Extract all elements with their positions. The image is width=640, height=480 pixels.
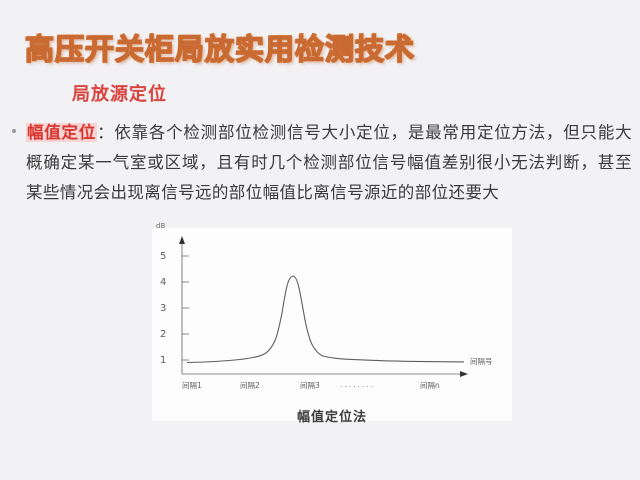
section-subtitle: 局放源定位 [72, 80, 167, 106]
x-tick-label-ellipsis: ........ [340, 380, 375, 389]
x-axis-title: 间隔号 [470, 356, 493, 367]
page-title: 高压开关柜局放实用检测技术 [0, 26, 440, 68]
chart-card: dB 1 2 3 4 5 间隔1 间隔2 间隔3 ........ 间隔n 间隔… [152, 228, 512, 421]
chart-plot-area: dB 1 2 3 4 5 间隔1 间隔2 间隔3 ........ 间隔n 间隔… [152, 228, 512, 421]
amplitude-localization-curve [152, 228, 512, 421]
x-tick-label-3: 间隔3 [300, 380, 320, 391]
chart-caption: 幅值定位法 [152, 406, 512, 425]
x-tick-label-n: 间隔n [420, 380, 440, 391]
bullet-dot-icon [12, 129, 16, 133]
bullet-body-text: ：依靠各个检测部位检测信号大小定位，是最常用定位方法，但只能大概确定某一气室或区… [26, 123, 632, 202]
bullet-block: 幅值定位：依靠各个检测部位检测信号大小定位，是最常用定位方法，但只能大概确定某一… [8, 118, 632, 208]
x-tick-label-2: 间隔2 [240, 380, 260, 391]
bullet-paragraph: 幅值定位：依靠各个检测部位检测信号大小定位，是最常用定位方法，但只能大概确定某一… [8, 118, 632, 208]
x-tick-label-1: 间隔1 [182, 380, 202, 391]
bullet-keyword: 幅值定位 [26, 123, 97, 142]
